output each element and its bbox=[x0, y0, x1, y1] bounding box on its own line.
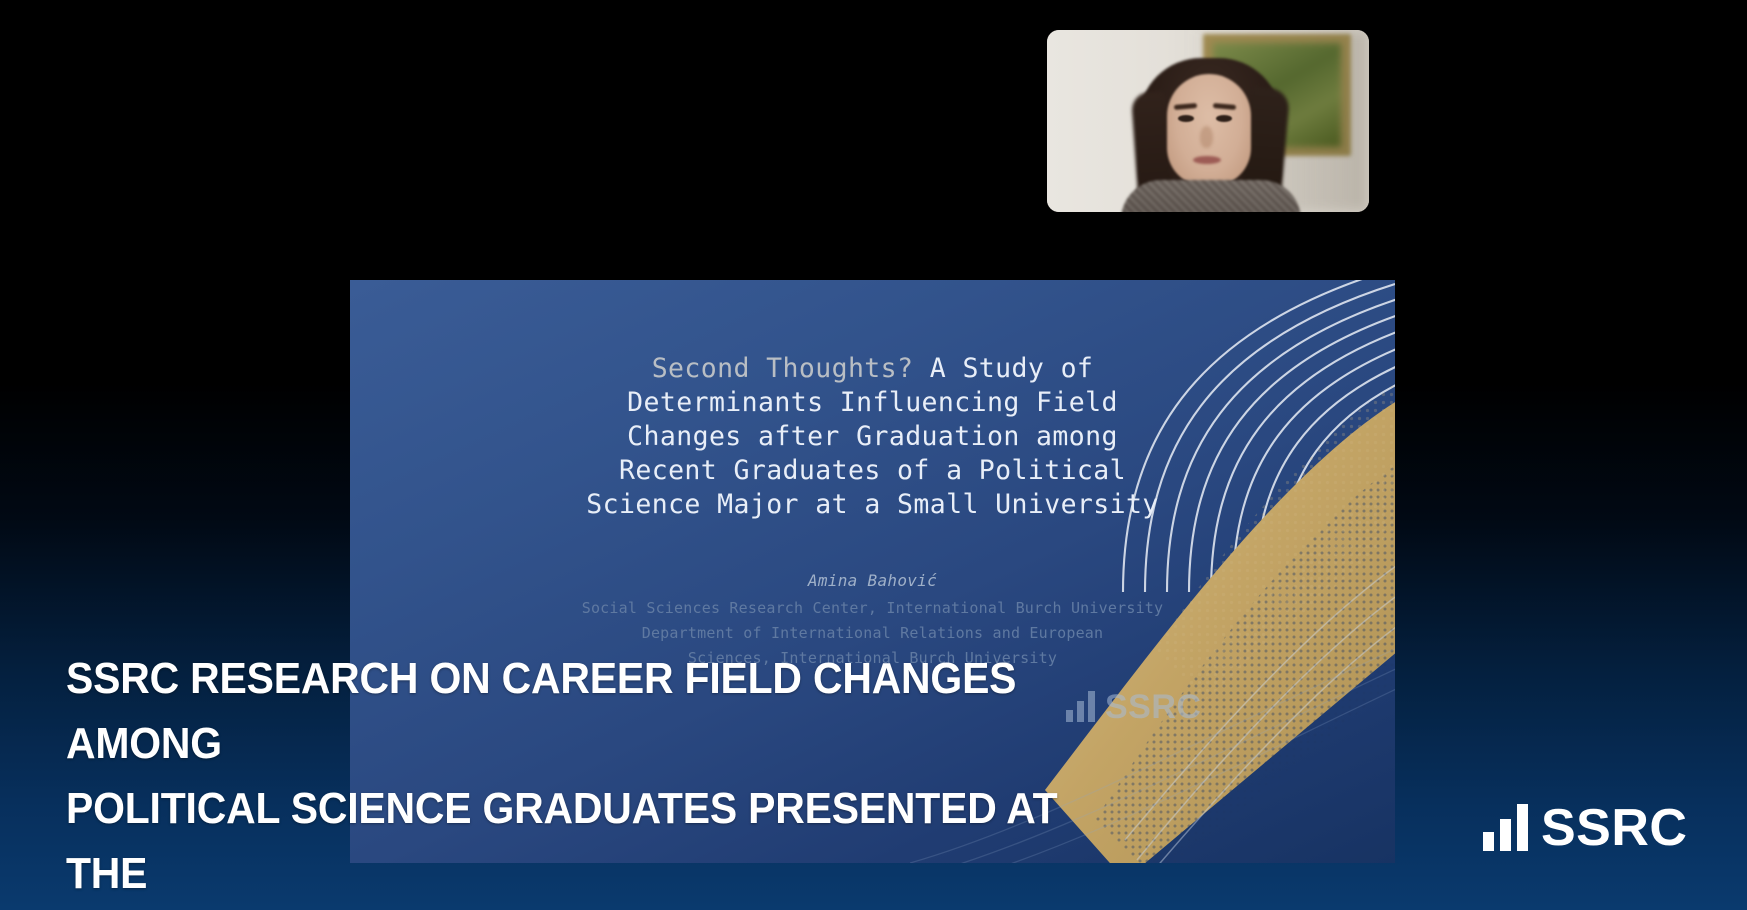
affiliation-line-2: University bbox=[1071, 599, 1163, 617]
speaker-torso bbox=[1121, 180, 1301, 212]
slide-title: Second Thoughts? A Study of Determinants… bbox=[528, 352, 1218, 522]
headline-line-1: SSRC RESEARCH ON CAREER FIELD CHANGES AM… bbox=[66, 646, 1117, 776]
slide-ssrc-logo-text: SSRC bbox=[1105, 692, 1201, 722]
brand-ssrc-logo: SSRC bbox=[1483, 805, 1687, 851]
slide-text-block: Second Thoughts? A Study of Determinants… bbox=[350, 352, 1395, 671]
speaker-mouth bbox=[1193, 156, 1221, 164]
bar-chart-icon bbox=[1483, 805, 1528, 851]
webcam-scene bbox=[1047, 30, 1369, 212]
slide-title-line-5: Science Major at a Small University bbox=[586, 489, 1158, 520]
slide-author: Amina Bahović bbox=[350, 568, 1395, 594]
speaker-webcam-tile[interactable] bbox=[1047, 30, 1369, 212]
affiliation-line-1: Social Sciences Research Center, Interna… bbox=[582, 599, 1062, 617]
slide-title-rest: A Study of bbox=[913, 353, 1093, 384]
overlay-headline: SSRC RESEARCH ON CAREER FIELD CHANGES AM… bbox=[66, 646, 1117, 910]
headline-line-2: POLITICAL SCIENCE GRADUATES PRESENTED AT… bbox=[66, 776, 1117, 906]
slide-title-line-3: Changes after Graduation among bbox=[627, 421, 1118, 452]
slide-title-lead: Second Thoughts? bbox=[652, 353, 914, 384]
slide-title-line-4: Recent Graduates of a Political bbox=[619, 455, 1126, 486]
affiliation-line-3: Department of International Relations an… bbox=[642, 624, 1104, 642]
speaker-eye-left bbox=[1178, 115, 1194, 122]
speaker-eye-right bbox=[1216, 115, 1232, 122]
headline-line-3: SOUTHEAST EUROPEAN STUDIES STUDENT SYMPO… bbox=[66, 906, 1117, 910]
slide-title-line-2: Determinants Influencing Field bbox=[627, 387, 1118, 418]
speaker-nose bbox=[1200, 126, 1213, 148]
brand-ssrc-logo-text: SSRC bbox=[1541, 806, 1687, 851]
video-frame: Second Thoughts? A Study of Determinants… bbox=[0, 0, 1747, 910]
